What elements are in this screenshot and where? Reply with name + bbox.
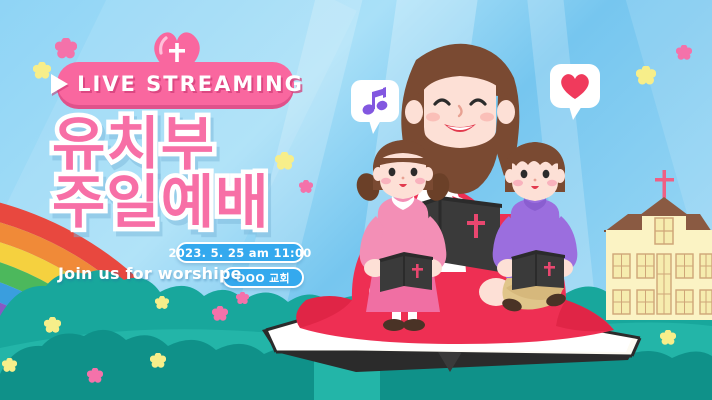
heart-bubble bbox=[548, 62, 602, 124]
tagline-text: Join us for worshipe bbox=[58, 264, 242, 283]
title-line-2: 주일예배 bbox=[52, 176, 269, 230]
poster-canvas: LIVE STREAMING 유치부 주일예배 2023. 5. 25 am 1… bbox=[0, 0, 712, 400]
church-building bbox=[604, 170, 712, 320]
title-line-1: 유치부 bbox=[52, 118, 269, 172]
live-streaming-label: LIVE STREAMING bbox=[77, 72, 304, 96]
main-title: 유치부 주일예배 bbox=[52, 118, 269, 230]
bible-girl bbox=[379, 252, 433, 292]
music-note-bubble bbox=[349, 78, 401, 138]
bible-boy bbox=[511, 250, 565, 290]
live-streaming-badge[interactable]: LIVE STREAMING bbox=[57, 62, 294, 105]
datetime-pill: 2023. 5. 25 am 11:00 bbox=[176, 242, 304, 263]
play-triangle-icon bbox=[51, 74, 68, 94]
